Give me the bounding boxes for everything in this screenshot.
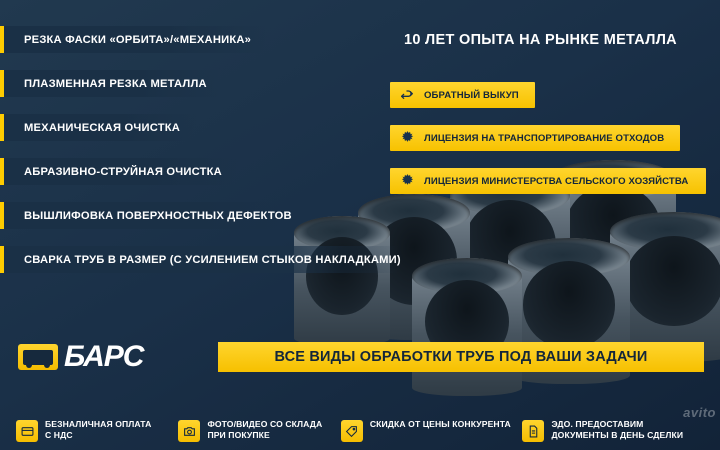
benefit-line-1: СКИДКА ОТ ЦЕНЫ КОНКУРЕНТА xyxy=(370,419,511,430)
logo-text: БАРС xyxy=(64,342,143,372)
badge-agriculture-license: ЛИЦЕНЗИЯ МИНИСТЕРСТВА СЕЛЬСКОГО ХОЗЯЙСТВ… xyxy=(390,168,706,194)
pipe xyxy=(412,258,522,396)
benefit-line-2: ПРИ ПОКУПКЕ xyxy=(207,430,322,441)
service-list: РЕЗКА ФАСКИ «ОРБИТА»/«МЕХАНИКА» ПЛАЗМЕНН… xyxy=(0,26,400,290)
cta-banner: ВСЕ ВИДЫ ОБРАБОТКИ ТРУБ ПОД ВАШИ ЗАДАЧИ xyxy=(218,342,704,372)
emblem-icon xyxy=(398,172,416,190)
badge-label: ЛИЦЕНЗИЯ НА ТРАНСПОРТИРОВАНИЕ ОТХОДОВ xyxy=(424,133,664,144)
recycle-icon xyxy=(398,86,416,104)
service-label: АБРАЗИВНО-СТРУЙНАЯ ОЧИСТКА xyxy=(24,166,222,178)
benefit-item: БЕЗНАЛИЧНАЯ ОПЛАТА С НДС xyxy=(16,419,178,442)
benefit-item: ФОТО/ВИДЕО СО СКЛАДА ПРИ ПОКУПКЕ xyxy=(178,419,340,442)
service-label: ВЫШЛИФОВКА ПОВЕРХНОСТНЫХ ДЕФЕКТОВ xyxy=(24,210,292,222)
service-item: АБРАЗИВНО-СТРУЙНАЯ ОЧИСТКА xyxy=(0,158,238,185)
service-label: МЕХАНИЧЕСКАЯ ОЧИСТКА xyxy=(24,122,180,134)
badge-buyback: ОБРАТНЫЙ ВЫКУП xyxy=(390,82,535,108)
service-label: СВАРКА ТРУБ В РАЗМЕР (С УСИЛЕНИЕМ СТЫКОВ… xyxy=(24,254,401,266)
benefit-text: БЕЗНАЛИЧНАЯ ОПЛАТА С НДС xyxy=(45,419,151,441)
benefit-line-1: БЕЗНАЛИЧНАЯ ОПЛАТА xyxy=(45,419,151,430)
certification-badges: ОБРАТНЫЙ ВЫКУП ЛИЦЕНЗИЯ НА ТРАНСПОРТИРОВ… xyxy=(390,82,712,211)
benefit-line-2: ДОКУМЕНТЫ В ДЕНЬ СДЕЛКИ xyxy=(551,430,683,441)
service-item: РЕЗКА ФАСКИ «ОРБИТА»/«МЕХАНИКА» xyxy=(0,26,267,53)
badge-label: ЛИЦЕНЗИЯ МИНИСТЕРСТВА СЕЛЬСКОГО ХОЗЯЙСТВ… xyxy=(424,176,688,187)
service-item: СВАРКА ТРУБ В РАЗМЕР (С УСИЛЕНИЕМ СТЫКОВ… xyxy=(0,246,400,273)
promo-banner: РЕЗКА ФАСКИ «ОРБИТА»/«МЕХАНИКА» ПЛАЗМЕНН… xyxy=(0,0,720,450)
service-item: ВЫШЛИФОВКА ПОВЕРХНОСТНЫХ ДЕФЕКТОВ xyxy=(0,202,308,229)
emblem-icon xyxy=(398,129,416,147)
headline: 10 ЛЕТ ОПЫТА НА РЫНКЕ МЕТАЛЛА xyxy=(404,32,677,48)
benefit-text: СКИДКА ОТ ЦЕНЫ КОНКУРЕНТА xyxy=(370,419,511,430)
badge-waste-license: ЛИЦЕНЗИЯ НА ТРАНСПОРТИРОВАНИЕ ОТХОДОВ xyxy=(390,125,680,151)
camera-icon xyxy=(178,420,200,442)
service-item: МЕХАНИЧЕСКАЯ ОЧИСТКА xyxy=(0,114,196,141)
watermark: avito xyxy=(683,405,716,420)
card-icon xyxy=(16,420,38,442)
company-logo: БАРС xyxy=(18,342,143,372)
document-icon xyxy=(522,420,544,442)
benefit-line-1: ФОТО/ВИДЕО СО СКЛАДА xyxy=(207,419,322,430)
badge-label: ОБРАТНЫЙ ВЫКУП xyxy=(424,90,519,101)
benefit-line-1: ЭДО. ПРЕДОСТАВИМ xyxy=(551,419,683,430)
benefit-text: ФОТО/ВИДЕО СО СКЛАДА ПРИ ПОКУПКЕ xyxy=(207,419,322,441)
truck-icon xyxy=(18,344,58,370)
benefits-row: БЕЗНАЛИЧНАЯ ОПЛАТА С НДС ФОТО/ВИДЕО СО С… xyxy=(0,419,720,442)
service-label: ПЛАЗМЕННАЯ РЕЗКА МЕТАЛЛА xyxy=(24,78,207,90)
service-item: ПЛАЗМЕННАЯ РЕЗКА МЕТАЛЛА xyxy=(0,70,223,97)
tag-icon xyxy=(341,420,363,442)
benefit-line-2: С НДС xyxy=(45,430,151,441)
benefit-item: СКИДКА ОТ ЦЕНЫ КОНКУРЕНТА xyxy=(341,419,523,442)
benefit-item: ЭДО. ПРЕДОСТАВИМ ДОКУМЕНТЫ В ДЕНЬ СДЕЛКИ xyxy=(522,419,704,442)
benefit-text: ЭДО. ПРЕДОСТАВИМ ДОКУМЕНТЫ В ДЕНЬ СДЕЛКИ xyxy=(551,419,683,441)
service-label: РЕЗКА ФАСКИ «ОРБИТА»/«МЕХАНИКА» xyxy=(24,34,251,46)
